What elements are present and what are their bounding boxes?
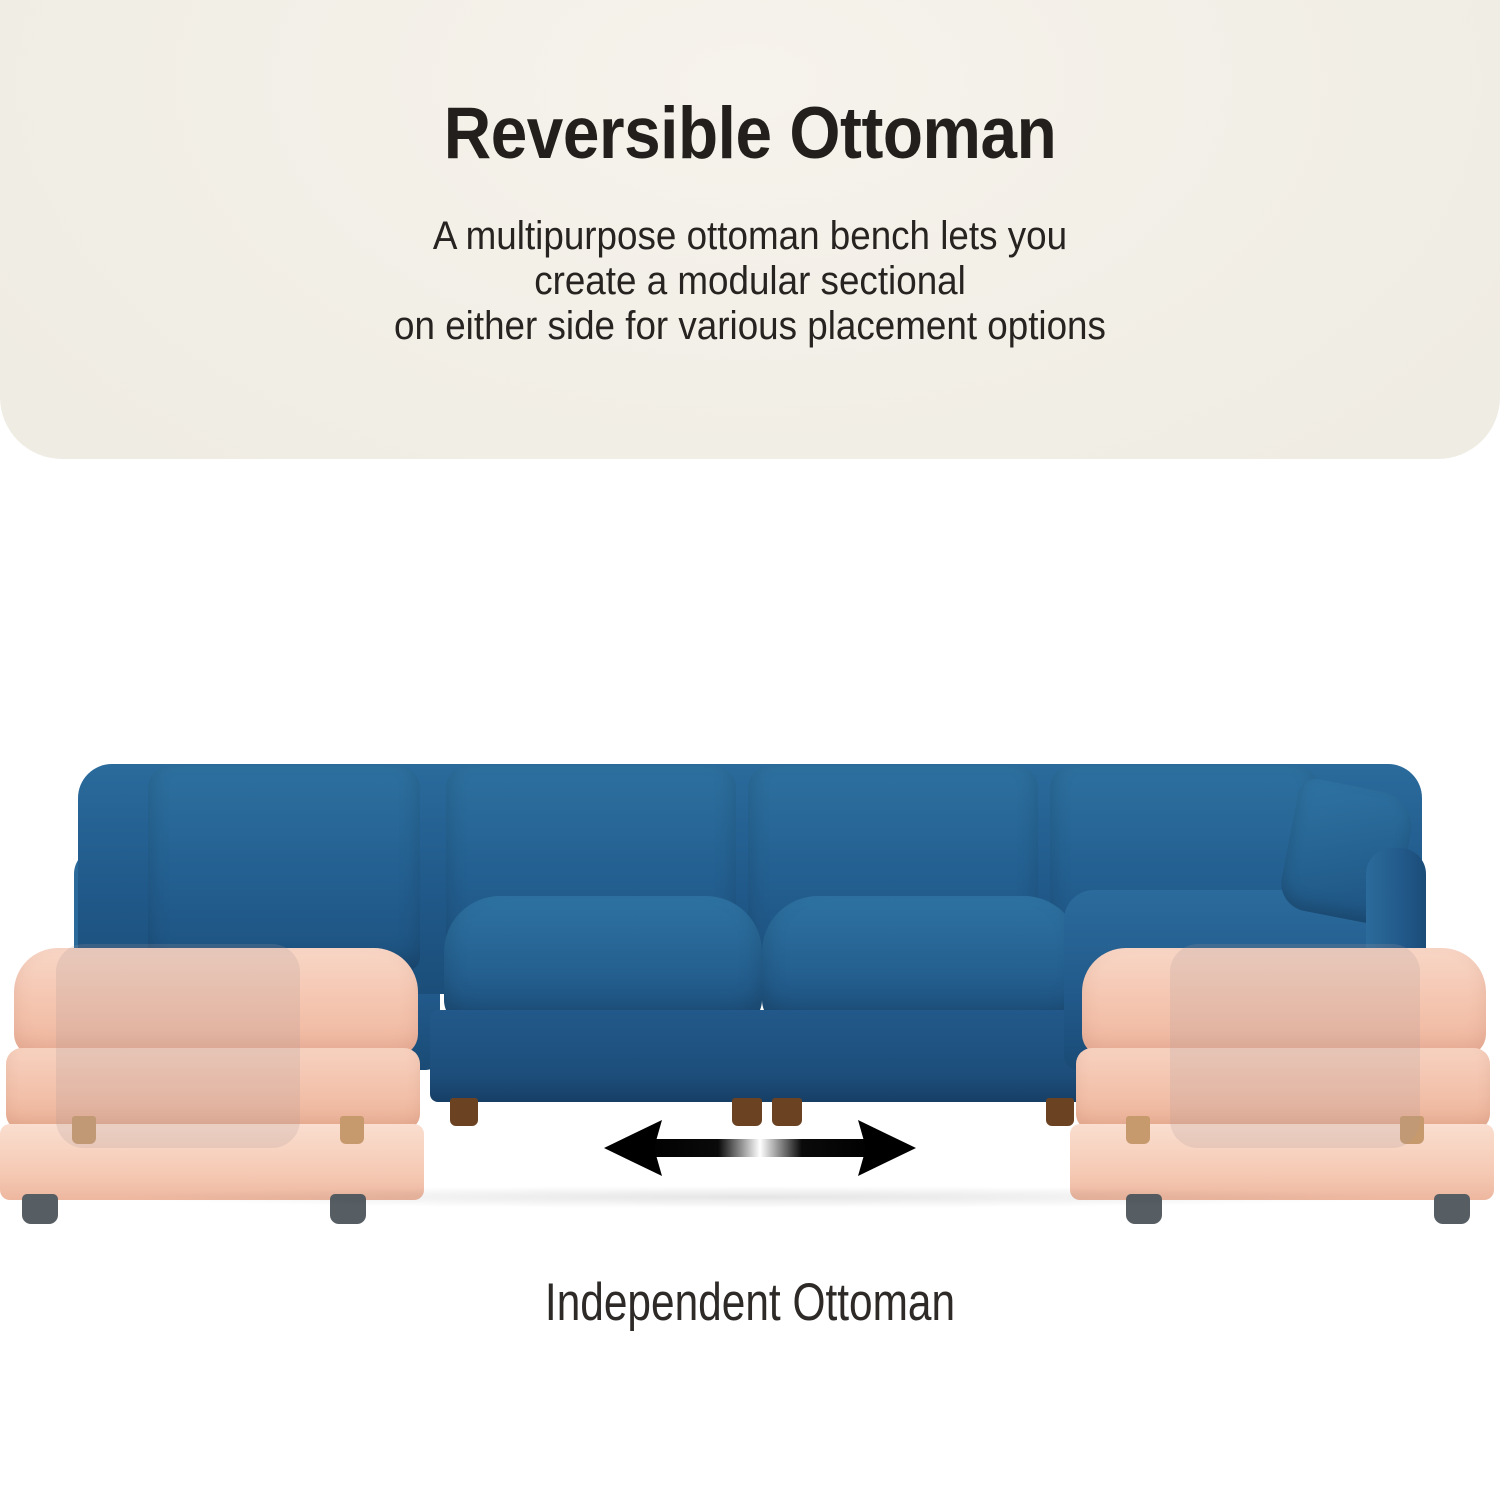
header-panel: Reversible Ottoman A multipurpose ottoma… <box>0 0 1500 459</box>
right-ottoman-wood-leg <box>1126 1116 1150 1144</box>
double-arrow-icon <box>600 1108 920 1188</box>
floor-shadow <box>120 1186 1390 1208</box>
right-ottoman-foot-right <box>1434 1194 1470 1224</box>
page-subtitle: A multipurpose ottoman bench lets you cr… <box>60 214 1440 349</box>
left-ottoman-wood-leg <box>72 1116 96 1144</box>
left-ottoman-wood-leg-right <box>340 1116 364 1144</box>
right-ottoman-wood-leg-right <box>1400 1116 1424 1144</box>
sofa-center-base <box>430 1010 1090 1102</box>
product-caption: Independent Ottoman <box>150 1272 1350 1333</box>
page-title: Reversible Ottoman <box>75 92 1425 175</box>
seat-cushion-center-left <box>444 896 762 1026</box>
back-cushion-1 <box>148 766 420 971</box>
subtitle-line-1: A multipurpose ottoman bench lets you <box>60 214 1440 259</box>
product-feature-page: Reversible Ottoman A multipurpose ottoma… <box>0 0 1500 1500</box>
left-ottoman-top-cushion <box>14 948 418 1056</box>
left-ottoman-foot-left <box>22 1194 58 1224</box>
subtitle-line-2: create a modular sectional <box>60 259 1440 304</box>
right-ottoman-top-cushion <box>1082 948 1486 1056</box>
right-ottoman-module[interactable] <box>1070 948 1500 1198</box>
sofa-leg-center-left <box>450 1098 478 1126</box>
left-ottoman-module[interactable] <box>0 948 430 1198</box>
slide-direction-annotation <box>600 1108 920 1188</box>
seat-cushion-center-right <box>762 896 1080 1026</box>
subtitle-line-3: on either side for various placement opt… <box>60 304 1440 349</box>
